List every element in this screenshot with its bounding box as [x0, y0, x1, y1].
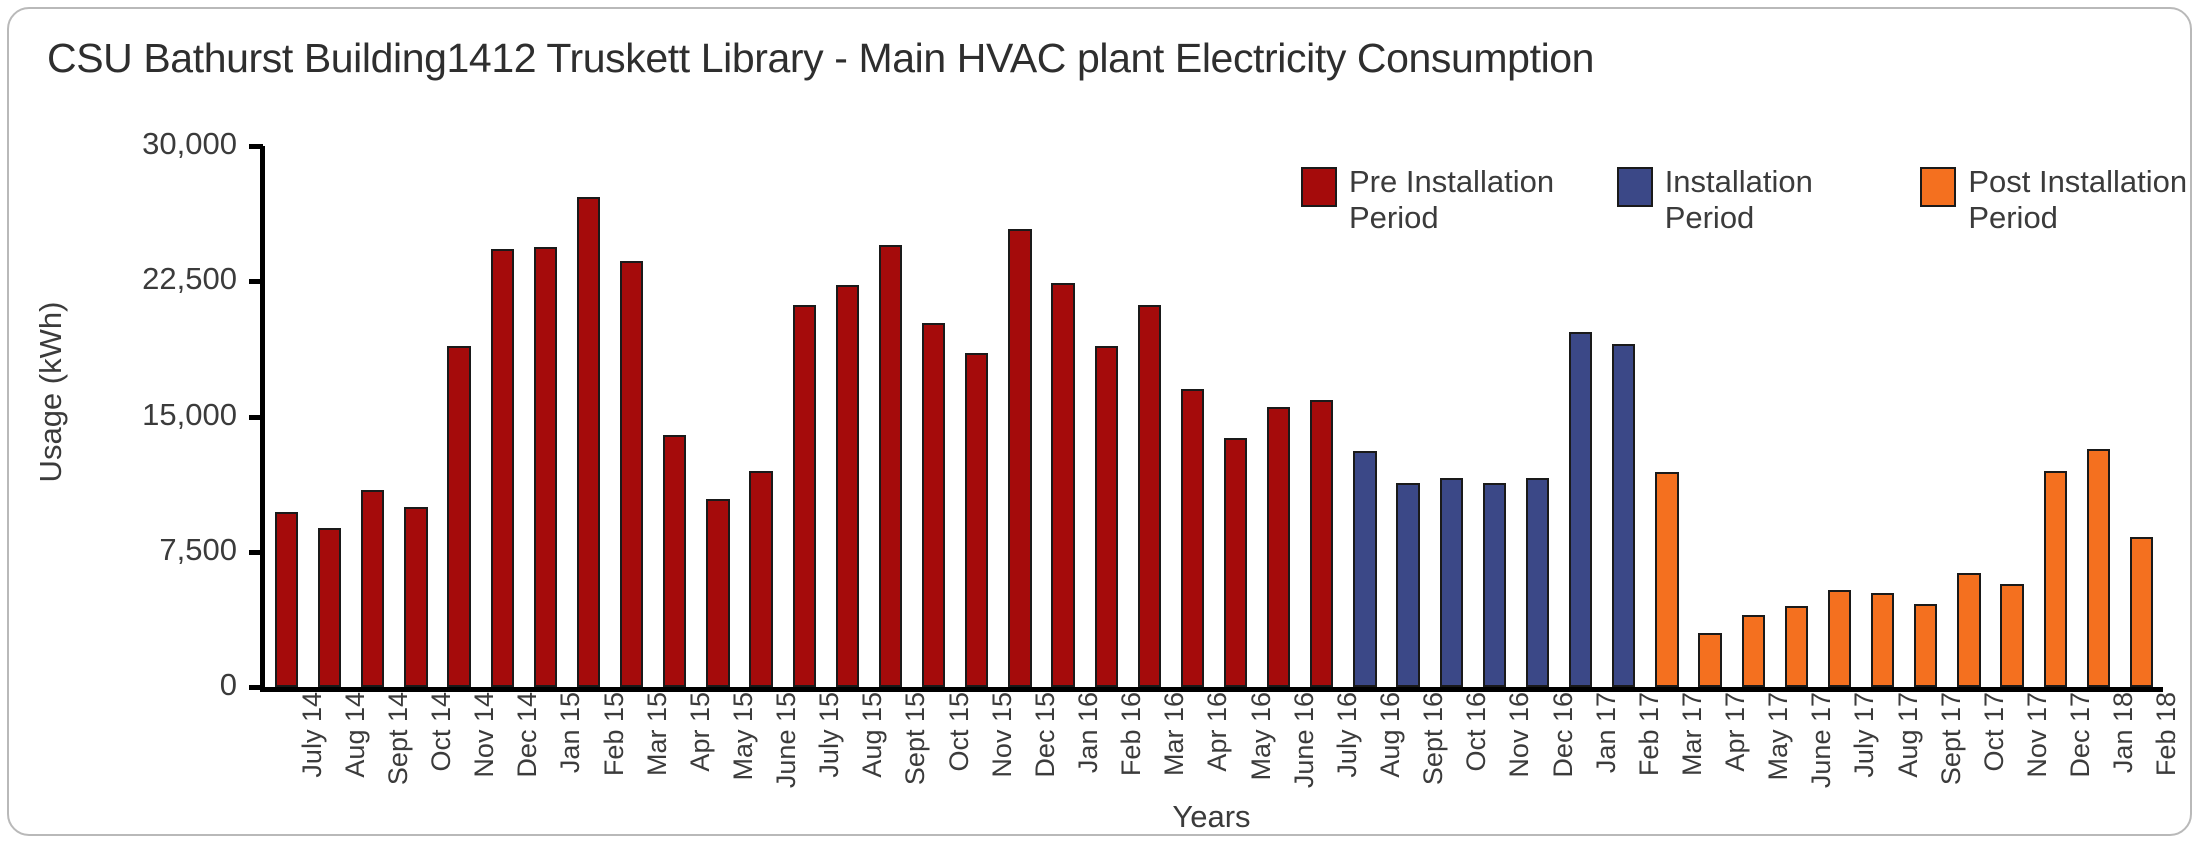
bar[interactable] [1095, 346, 1118, 687]
y-axis-tick [249, 144, 263, 149]
bar[interactable] [1440, 478, 1463, 687]
x-axis-tick-label: Mar 17 [1677, 692, 1708, 776]
bar[interactable] [275, 512, 298, 687]
bar[interactable] [1138, 305, 1161, 687]
bar[interactable] [1181, 389, 1204, 687]
y-axis-tick-label: 0 [37, 667, 237, 703]
x-axis-title: Years [260, 799, 2163, 835]
y-axis-title: Usage (kWh) [33, 242, 69, 542]
x-axis-tick-label: Nov 14 [469, 692, 500, 778]
x-axis-tick-label: Dec 17 [2065, 692, 2096, 778]
x-axis-tick-label: Dec 15 [1030, 692, 1061, 778]
x-axis-tick-label: Aug 15 [857, 692, 888, 778]
x-axis-tick-label: Nov 15 [987, 692, 1018, 778]
bar[interactable] [1612, 344, 1635, 687]
x-axis-tick-label: July 15 [814, 692, 845, 778]
x-axis-tick-label: Nov 16 [1504, 692, 1535, 778]
x-axis-tick-label: Oct 14 [426, 692, 457, 772]
bar[interactable] [620, 261, 643, 687]
bar[interactable] [663, 435, 686, 687]
bar[interactable] [749, 471, 772, 687]
x-axis-tick-label: Aug 14 [340, 692, 371, 778]
x-axis-tick-label: July 16 [1332, 692, 1363, 778]
bar[interactable] [1008, 229, 1031, 687]
x-axis-tick-label: Aug 16 [1375, 692, 1406, 778]
x-axis-tick-label: Jan 18 [2108, 692, 2139, 773]
bar[interactable] [922, 323, 945, 687]
legend-label: Post Installation Period [1968, 164, 2194, 235]
x-axis-tick-label: May 15 [728, 692, 759, 781]
legend-swatch-icon [1301, 167, 1337, 207]
legend-item-pre[interactable]: Pre Installation Period [1301, 164, 1575, 235]
bar[interactable] [1914, 604, 1937, 687]
bar[interactable] [404, 507, 427, 687]
x-axis-tick-label: July 17 [1849, 692, 1880, 778]
y-axis-tick-label: 30,000 [37, 126, 237, 162]
x-axis-tick-label: Jan 16 [1073, 692, 1104, 773]
x-axis-tick-label: Sept 15 [900, 692, 931, 785]
bar[interactable] [1569, 332, 1592, 687]
x-axis-tick-label: Feb 18 [2151, 692, 2182, 776]
x-axis-tick-label: Oct 17 [1979, 692, 2010, 772]
x-axis-tick-label: Oct 15 [944, 692, 975, 772]
bar[interactable] [2130, 537, 2153, 687]
bar[interactable] [2000, 584, 2023, 687]
x-axis-tick-label: Sept 17 [1936, 692, 1967, 785]
x-axis-tick-label: Dec 14 [512, 692, 543, 778]
x-axis-tick-label: Aug 17 [1893, 692, 1924, 778]
chart-legend: Pre Installation PeriodInstallation Peri… [1301, 164, 2194, 235]
bar[interactable] [1785, 606, 1808, 687]
bar-chart-plot: 30,00022,50015,0007,5000 Usage (kWh) Jul… [9, 9, 2194, 838]
x-axis-tick-label: July 14 [297, 692, 328, 778]
x-axis-tick-label: Feb 16 [1116, 692, 1147, 776]
x-axis-tick-label: June 16 [1289, 692, 1320, 788]
bar[interactable] [1051, 283, 1074, 687]
x-axis-tick-label: June 17 [1806, 692, 1837, 788]
bar[interactable] [1526, 478, 1549, 687]
x-axis-tick-label: May 16 [1246, 692, 1277, 781]
bar[interactable] [447, 346, 470, 687]
bar[interactable] [793, 305, 816, 687]
x-axis-tick-label: Feb 17 [1634, 692, 1665, 776]
x-axis-tick-label: Mar 16 [1159, 692, 1190, 776]
x-axis-tick-label: June 15 [771, 692, 802, 788]
x-axis-tick-label: Oct 16 [1461, 692, 1492, 772]
y-axis-tick [249, 550, 263, 555]
x-axis-tick-label: Sept 14 [383, 692, 414, 785]
y-axis-tick [249, 279, 263, 284]
bar[interactable] [1396, 483, 1419, 687]
legend-label: Pre Installation Period [1349, 164, 1575, 235]
bar[interactable] [836, 285, 859, 687]
bar[interactable] [1871, 593, 1894, 687]
x-axis-tick-label: Apr 16 [1202, 692, 1233, 772]
bar[interactable] [361, 490, 384, 687]
legend-swatch-icon [1920, 167, 1956, 207]
x-axis-tick-labels: July 14Aug 14Sept 14Oct 14Nov 14Dec 14Ja… [265, 692, 2163, 812]
x-axis-tick-label: Apr 17 [1720, 692, 1751, 772]
legend-swatch-icon [1617, 167, 1653, 207]
bar[interactable] [1655, 472, 1678, 687]
x-axis-tick-label: Nov 17 [2022, 692, 2053, 778]
bar[interactable] [1267, 407, 1290, 687]
bar[interactable] [1353, 451, 1376, 687]
bar[interactable] [2044, 471, 2067, 687]
x-axis-tick-label: Feb 15 [599, 692, 630, 776]
bar[interactable] [1957, 573, 1980, 687]
x-axis-tick-label: Jan 17 [1591, 692, 1622, 773]
bar[interactable] [577, 197, 600, 688]
bar[interactable] [491, 249, 514, 687]
bar[interactable] [1310, 400, 1333, 687]
bar[interactable] [965, 353, 988, 687]
y-axis-tick [249, 685, 263, 690]
x-axis-tick-label: Mar 15 [642, 692, 673, 776]
legend-label: Installation Period [1665, 164, 1879, 235]
bar[interactable] [879, 245, 902, 687]
bar[interactable] [2087, 449, 2110, 687]
bar[interactable] [318, 528, 341, 687]
bar[interactable] [1828, 590, 1851, 687]
bar[interactable] [1224, 438, 1247, 687]
x-axis-tick-label: Sept 16 [1418, 692, 1449, 785]
bar[interactable] [1698, 633, 1721, 687]
bar[interactable] [534, 247, 557, 687]
legend-item-post[interactable]: Post Installation Period [1920, 164, 2194, 235]
bar[interactable] [1483, 483, 1506, 687]
x-axis-tick-label: Apr 15 [685, 692, 716, 772]
x-axis-tick-label: May 17 [1763, 692, 1794, 781]
legend-item-install[interactable]: Installation Period [1617, 164, 1879, 235]
chart-card: CSU Bathurst Building1412 Truskett Libra… [7, 7, 2192, 836]
x-axis-tick-label: Dec 16 [1548, 692, 1579, 778]
bar[interactable] [706, 499, 729, 687]
x-axis-tick-label: Jan 15 [555, 692, 586, 773]
bar[interactable] [1742, 615, 1765, 687]
y-axis-tick [249, 415, 263, 420]
